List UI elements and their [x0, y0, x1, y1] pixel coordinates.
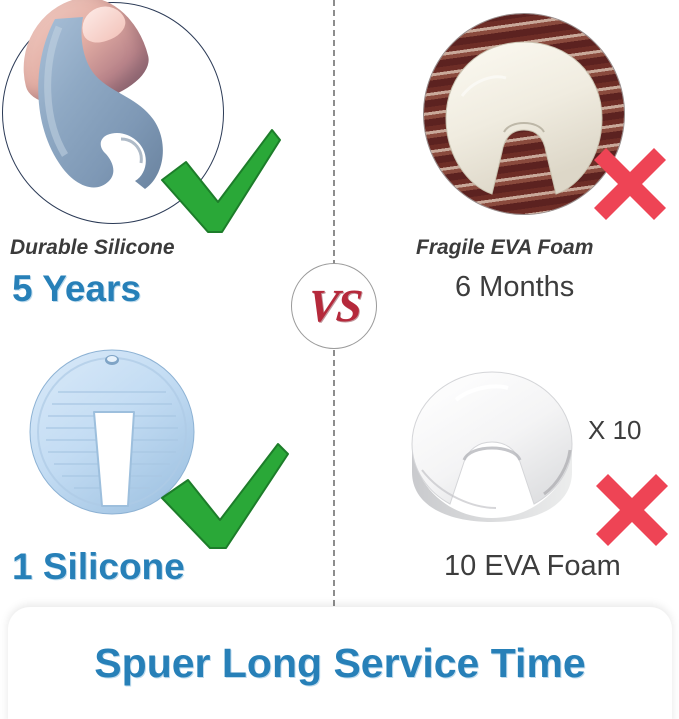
label-durable-silicone: Durable Silicone: [10, 236, 175, 260]
infographic-root: Durable Silicone 5 Years Fragile EVA Foa…: [0, 0, 679, 719]
cross-icon-row2: [594, 472, 670, 553]
silicone-pad-shape: [25, 13, 145, 193]
label-multiplier-x10: X 10: [588, 415, 642, 446]
image-white-eva-foam-ring-stack: [404, 366, 580, 524]
value-five-years: 5 Years: [12, 268, 141, 310]
eva-foam-ring-shape: [444, 40, 604, 198]
value-six-months: 6 Months: [455, 271, 574, 304]
cross-icon-row1: [592, 146, 668, 227]
check-icon-row1: [156, 128, 284, 245]
check-icon-row2: [156, 440, 292, 557]
banner-headline: Spuer Long Service Time: [94, 640, 585, 687]
vs-label: VS: [305, 283, 362, 329]
value-ten-eva-foam: 10 EVA Foam: [444, 550, 621, 583]
bottom-banner: Spuer Long Service Time: [8, 607, 672, 719]
vs-badge: VS: [291, 263, 377, 349]
label-fragile-eva-foam: Fragile EVA Foam: [416, 236, 593, 260]
